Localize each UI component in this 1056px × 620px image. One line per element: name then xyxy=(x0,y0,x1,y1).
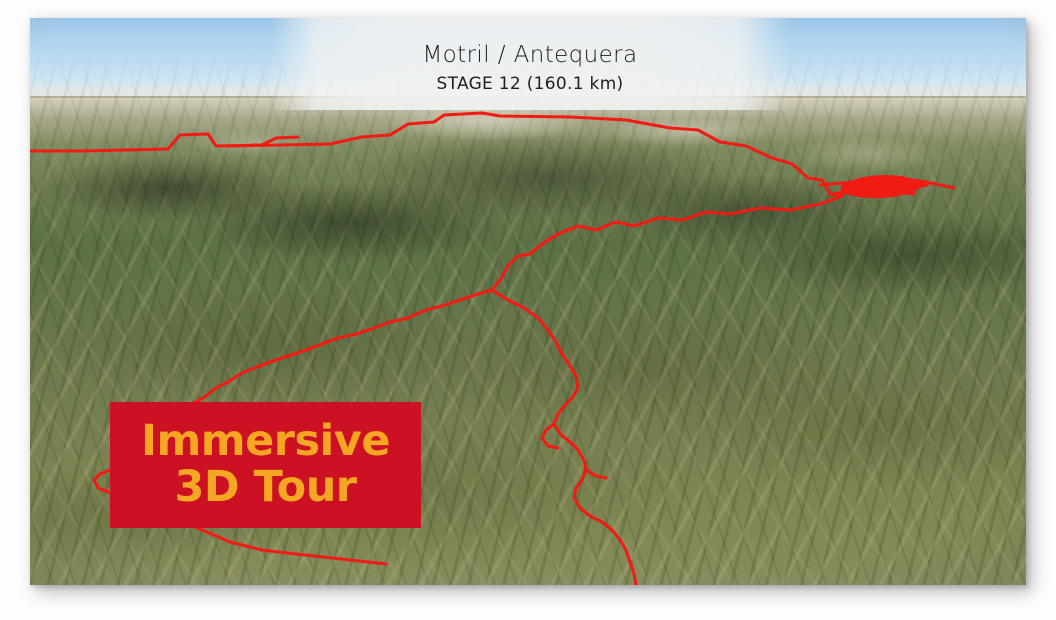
terrain-photo: Motril / Antequera STAGE 12 (160.1 km) I… xyxy=(30,18,1026,585)
banner-line-1: Immersive xyxy=(141,420,390,464)
stage-subtitle: STAGE 12 (160.1 km) xyxy=(270,74,790,94)
route-title: Motril / Antequera xyxy=(270,42,790,68)
banner-line-2: 3D Tour xyxy=(174,466,356,510)
screenshot-root: Motril / Antequera STAGE 12 (160.1 km) I… xyxy=(0,0,1056,620)
terrain-photo-frame: Motril / Antequera STAGE 12 (160.1 km) I… xyxy=(30,18,1026,585)
title-band: Motril / Antequera STAGE 12 (160.1 km) xyxy=(270,18,790,110)
immersive-3d-tour-banner[interactable]: Immersive 3D Tour xyxy=(110,402,421,528)
